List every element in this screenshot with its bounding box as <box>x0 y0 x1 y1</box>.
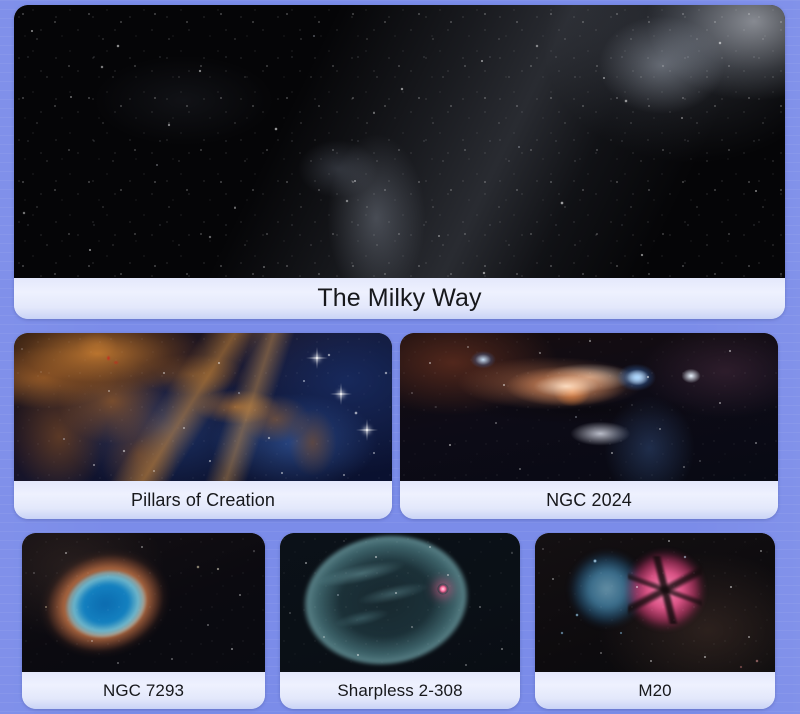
card-m20[interactable]: M20 <box>535 533 775 709</box>
milky-way-bright-stars <box>14 5 785 278</box>
caption-label: M20 <box>638 681 671 701</box>
thumbnail-sharpless-2-308[interactable] <box>280 533 520 672</box>
caption-ngc-7293: NGC 7293 <box>22 672 265 709</box>
helix-stars <box>22 533 265 672</box>
sharpless-stars <box>280 533 520 672</box>
caption-label: NGC 2024 <box>546 490 632 511</box>
thumbnail-milky-way[interactable] <box>14 5 785 278</box>
thumbnail-m20[interactable] <box>535 533 775 672</box>
caption-m20: M20 <box>535 672 775 709</box>
card-milky-way[interactable]: The Milky Way <box>14 5 785 319</box>
thumbnail-ngc-7293[interactable] <box>22 533 265 672</box>
caption-label: Sharpless 2-308 <box>337 681 462 701</box>
thumbnail-ngc-2024[interactable] <box>400 333 778 481</box>
gallery-page: The Milky Way Pillars of Creation <box>0 0 800 714</box>
caption-sharpless-2-308: Sharpless 2-308 <box>280 672 520 709</box>
thumbnail-pillars-of-creation[interactable] <box>14 333 392 481</box>
caption-label: Pillars of Creation <box>131 490 275 511</box>
sharpless-pink-star <box>438 583 449 594</box>
pillars-diffraction-spikes <box>14 333 392 481</box>
flame-stars <box>400 333 778 481</box>
caption-label: The Milky Way <box>317 284 481 313</box>
caption-label: NGC 7293 <box>103 681 184 701</box>
card-ngc-2024[interactable]: NGC 2024 <box>400 333 778 519</box>
card-pillars-of-creation[interactable]: Pillars of Creation <box>14 333 392 519</box>
caption-pillars-of-creation: Pillars of Creation <box>14 481 392 519</box>
m20-stars <box>535 533 775 672</box>
caption-milky-way: The Milky Way <box>14 278 785 319</box>
card-sharpless-2-308[interactable]: Sharpless 2-308 <box>280 533 520 709</box>
caption-ngc-2024: NGC 2024 <box>400 481 778 519</box>
card-ngc-7293[interactable]: NGC 7293 <box>22 533 265 709</box>
